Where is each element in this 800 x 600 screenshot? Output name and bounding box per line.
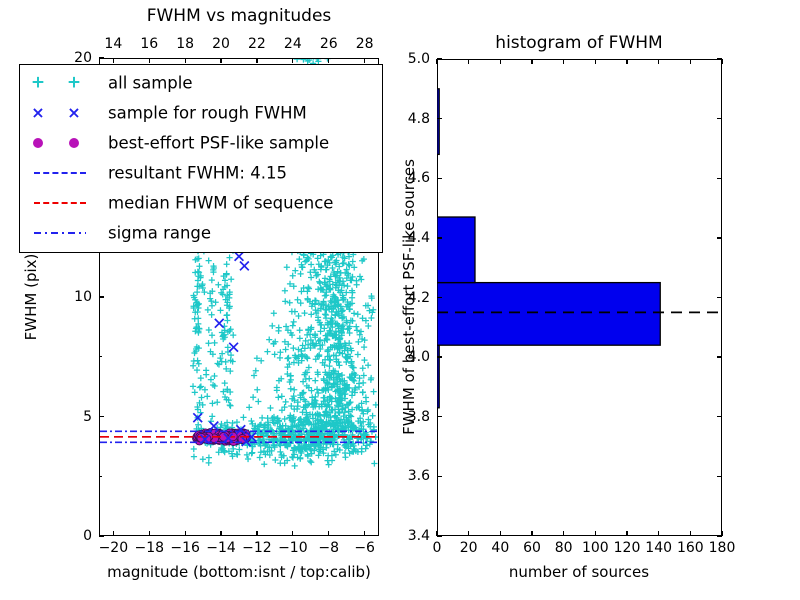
hist-y-tick-label: 4.6 (408, 170, 430, 186)
hist-x-tick-top (468, 59, 469, 64)
hist-y-tick-label: 3.8 (408, 409, 430, 425)
legend-item-4: resultant FWHM: 4.15 (20, 158, 382, 188)
hist-x-tick-label: 40 (491, 540, 509, 556)
hist-y-tick-right (717, 476, 722, 477)
hist-x-tick-label: 140 (645, 540, 672, 556)
hist-x-tick-label: 100 (582, 540, 609, 556)
hist-x-tick-label: 160 (677, 540, 704, 556)
hist-y-tick-label: 4.2 (408, 290, 430, 306)
legend-item-5: median FHWM of sequence (20, 188, 382, 218)
legend-line-sample (34, 232, 86, 234)
hist-y-tick-right (717, 535, 722, 536)
hist-y-tick (437, 118, 442, 119)
hist-x-tick-label: 120 (614, 540, 641, 556)
hist-y-tick (437, 237, 442, 238)
hist-x-tick-top (658, 59, 659, 64)
hist-y-tick-right (717, 416, 722, 417)
hist-y-tick (437, 416, 442, 417)
figure-canvas: FWHM vs magnitudes magnitude (bottom:isn… (0, 0, 800, 600)
hist-y-tick (437, 178, 442, 179)
legend-line-sample (34, 202, 86, 204)
dot-icon (33, 138, 43, 148)
hist-y-tick-label: 3.4 (408, 528, 430, 544)
hist-x-tick (626, 531, 627, 536)
hist-y-tick-label: 4.4 (408, 230, 430, 246)
hist-y-tick (437, 535, 442, 536)
hist-x-tick-label: 20 (460, 540, 478, 556)
hist-x-tick-top (690, 59, 691, 64)
hist-x-tick (531, 531, 532, 536)
hist-x-tick-label: 80 (555, 540, 573, 556)
plus-icon: + (67, 75, 81, 92)
legend-item-2: ××sample for rough FWHM (20, 98, 382, 128)
legend-item-label: sample for rough FWHM (108, 104, 307, 123)
cross-icon: × (67, 105, 80, 121)
hist-x-tick (500, 531, 501, 536)
hist-x-tick-top (595, 59, 596, 64)
hist-x-tick-label: 60 (523, 540, 541, 556)
cross-icon: × (31, 105, 44, 121)
hist-x-tick-label: 180 (709, 540, 736, 556)
hist-x-tick (690, 531, 691, 536)
hist-y-tick-right (717, 58, 722, 59)
legend-item-label: sigma range (108, 224, 211, 243)
legend-item-label: median FHWM of sequence (108, 194, 333, 213)
dot-icon (69, 138, 79, 148)
hist-x-tick-top (531, 59, 532, 64)
hist-y-tick-label: 3.6 (408, 468, 430, 484)
hist-y-tick-right (717, 237, 722, 238)
hist-x-tick (468, 531, 469, 536)
hist-x-tick-top (436, 59, 437, 64)
hist-y-tick-label: 4.0 (408, 349, 430, 365)
hist-y-tick-right (717, 297, 722, 298)
legend-item-6: sigma range (20, 218, 382, 248)
hist-y-tick (437, 297, 442, 298)
hist-x-tick (595, 531, 596, 536)
hist-y-tick-label: 5.0 (408, 51, 430, 67)
hist-x-tick-top (500, 59, 501, 64)
hist-y-tick-right (717, 118, 722, 119)
hist-x-tick-top (626, 59, 627, 64)
hist-x-tick-label: 0 (433, 540, 442, 556)
hist-y-tick (437, 58, 442, 59)
legend-box: ++all sample××sample for rough FWHMbest-… (19, 64, 383, 253)
legend-item-label: best-effort PSF-like sample (108, 134, 329, 153)
legend-item-label: all sample (108, 74, 193, 93)
hist-y-tick-label: 4.8 (408, 111, 430, 127)
hist-x-tick (563, 531, 564, 536)
hist-y-tick-right (717, 356, 722, 357)
legend-item-label: resultant FWHM: 4.15 (108, 164, 287, 183)
hist-x-tick (658, 531, 659, 536)
legend-item-3: best-effort PSF-like sample (20, 128, 382, 158)
legend-line-sample (34, 172, 86, 174)
hist-y-tick (437, 476, 442, 477)
hist-y-tick (437, 356, 442, 357)
hist-x-tick-top (721, 59, 722, 64)
hist-y-tick-right (717, 178, 722, 179)
legend-item-1: ++all sample (20, 68, 382, 98)
hist-x-tick-top (563, 59, 564, 64)
plus-icon: + (31, 75, 45, 92)
